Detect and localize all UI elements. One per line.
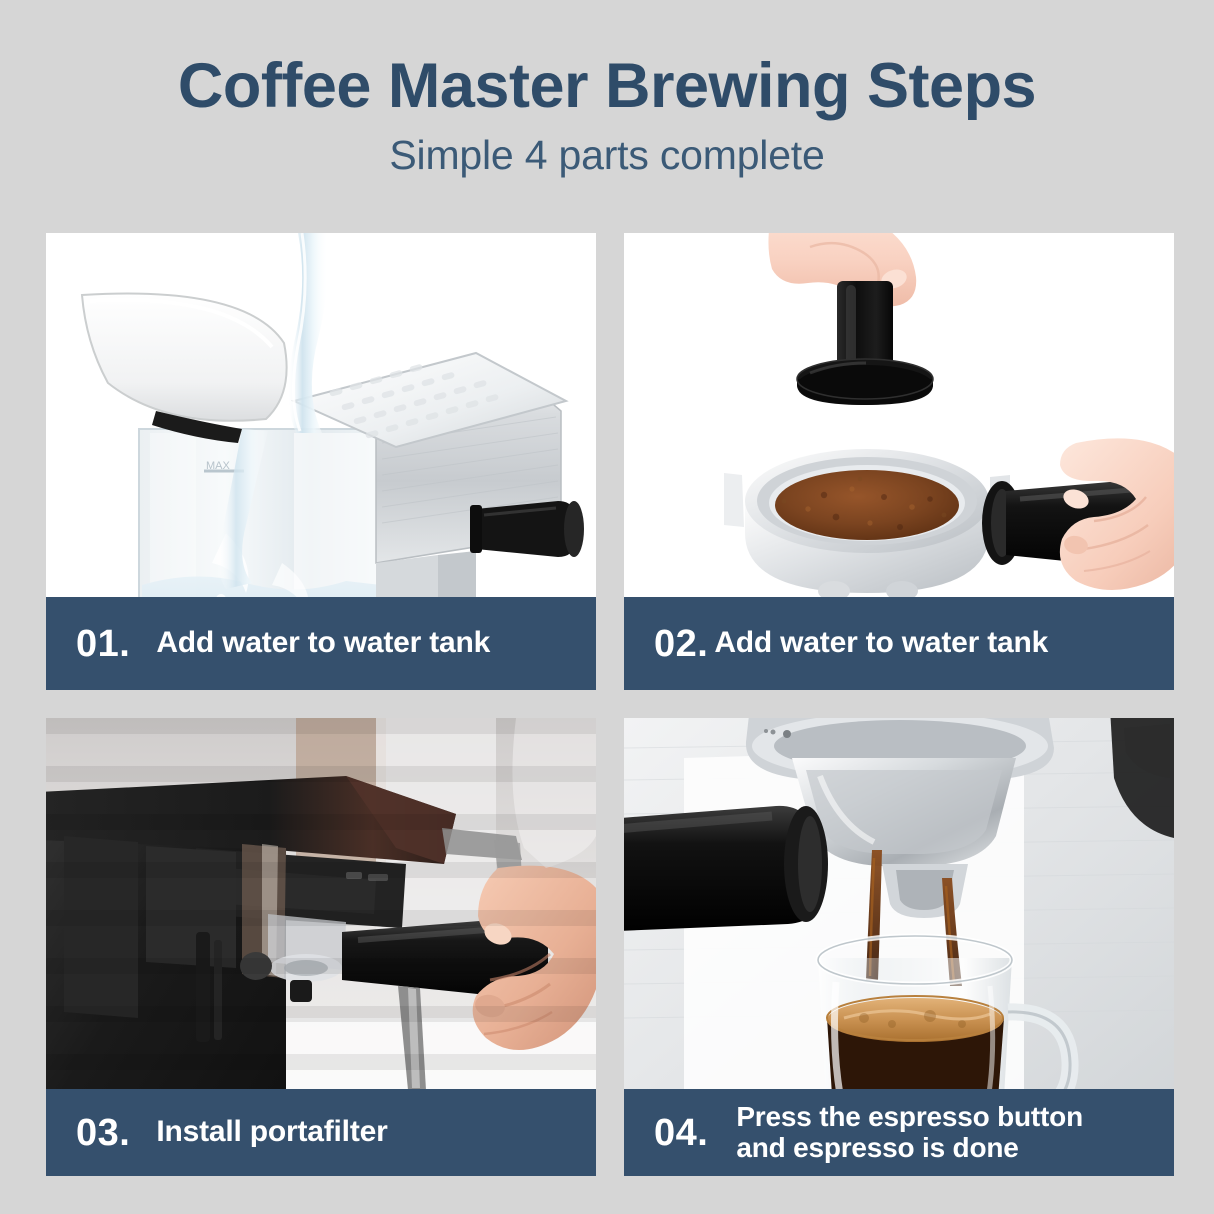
step-card-2[interactable]: 02. Add water to water tank: [624, 233, 1174, 690]
step-2-text: Add water to water tank: [714, 627, 1048, 659]
step-3-caption: 03. Install portafilter: [46, 1089, 596, 1176]
page-title: Coffee Master Brewing Steps: [0, 52, 1214, 120]
step-card-3[interactable]: 03. Install portafilter: [46, 718, 596, 1176]
step-4-number: 04.: [654, 1114, 708, 1152]
step-1-text: Add water to water tank: [156, 627, 490, 659]
step-2-number: 02.: [654, 625, 708, 663]
infographic-page: Coffee Master Brewing Steps Simple 4 par…: [0, 0, 1214, 1214]
page-subtitle: Simple 4 parts complete: [0, 132, 1214, 179]
step-1-caption: 01. Add water to water tank: [46, 597, 596, 690]
step-3-number: 03.: [76, 1114, 130, 1152]
step-4-text-line-2: and espresso is done: [736, 1132, 1018, 1163]
step-4-text: Press the espresso buttonand espresso is…: [736, 1102, 1083, 1162]
svg-text:MAX: MAX: [206, 460, 231, 472]
step-2-caption: 02. Add water to water tank: [624, 597, 1174, 690]
step-card-1[interactable]: MAX: [46, 233, 596, 690]
step-4-text-line-1: Press the espresso button: [736, 1101, 1083, 1132]
step-4-caption: 04. Press the espresso buttonand espress…: [624, 1089, 1174, 1176]
header: Coffee Master Brewing Steps Simple 4 par…: [0, 0, 1214, 179]
steps-grid: MAX: [46, 233, 1174, 1176]
step-card-4[interactable]: 04. Press the espresso buttonand espress…: [624, 718, 1174, 1176]
step-3-text: Install portafilter: [156, 1116, 387, 1148]
step-1-number: 01.: [76, 625, 130, 663]
